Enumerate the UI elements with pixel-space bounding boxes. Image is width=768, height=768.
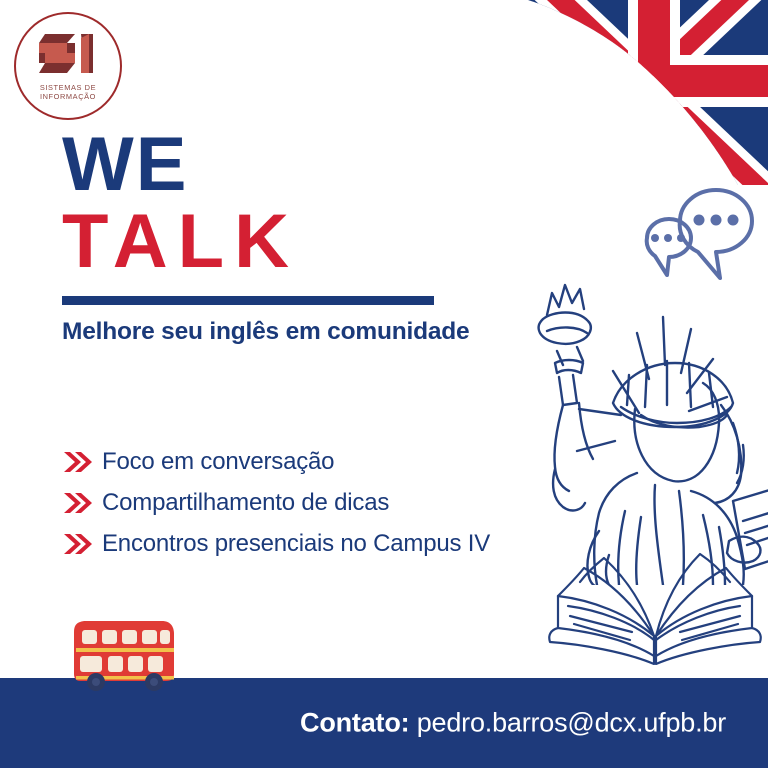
title-line-we: WE <box>62 128 482 202</box>
feature-list: Foco em conversação Compartilhamento de … <box>62 446 582 569</box>
logo-line-2: INFORMAÇÃO <box>40 92 96 101</box>
tagline: Melhore seu inglês em comunidade <box>62 318 482 346</box>
list-item-label: Compartilhamento de dicas <box>102 489 389 517</box>
list-item: Foco em conversação <box>62 446 582 478</box>
london-double-decker-bus-illustration <box>68 616 184 696</box>
union-jack-flag-icon <box>488 0 768 185</box>
list-item: Compartilhamento de dicas <box>62 487 582 519</box>
list-item-label: Encontros presenciais no Campus IV <box>102 530 490 558</box>
headline-block: WE TALK Melhore seu inglês em comunidade <box>62 128 482 346</box>
double-chevron-right-icon <box>62 490 92 516</box>
contact-label: Contato: <box>300 708 409 738</box>
double-chevron-right-icon <box>62 449 92 475</box>
logo-badge: SISTEMAS DE INFORMAÇÃO <box>14 12 122 120</box>
logo-text: SISTEMAS DE INFORMAÇÃO <box>40 84 96 101</box>
title-divider <box>62 296 434 305</box>
si-monogram-icon <box>37 30 99 80</box>
title-line-talk: TALK <box>62 202 482 282</box>
list-item-label: Foco em conversação <box>102 448 334 476</box>
contact-line: Contato: pedro.barros@dcx.ufpb.br <box>300 708 726 739</box>
double-chevron-right-icon <box>62 531 92 557</box>
list-item: Encontros presenciais no Campus IV <box>62 528 582 560</box>
contact-email: pedro.barros@dcx.ufpb.br <box>417 708 726 738</box>
poster-canvas: SISTEMAS DE INFORMAÇÃO WE TALK Melhore s… <box>0 0 768 768</box>
